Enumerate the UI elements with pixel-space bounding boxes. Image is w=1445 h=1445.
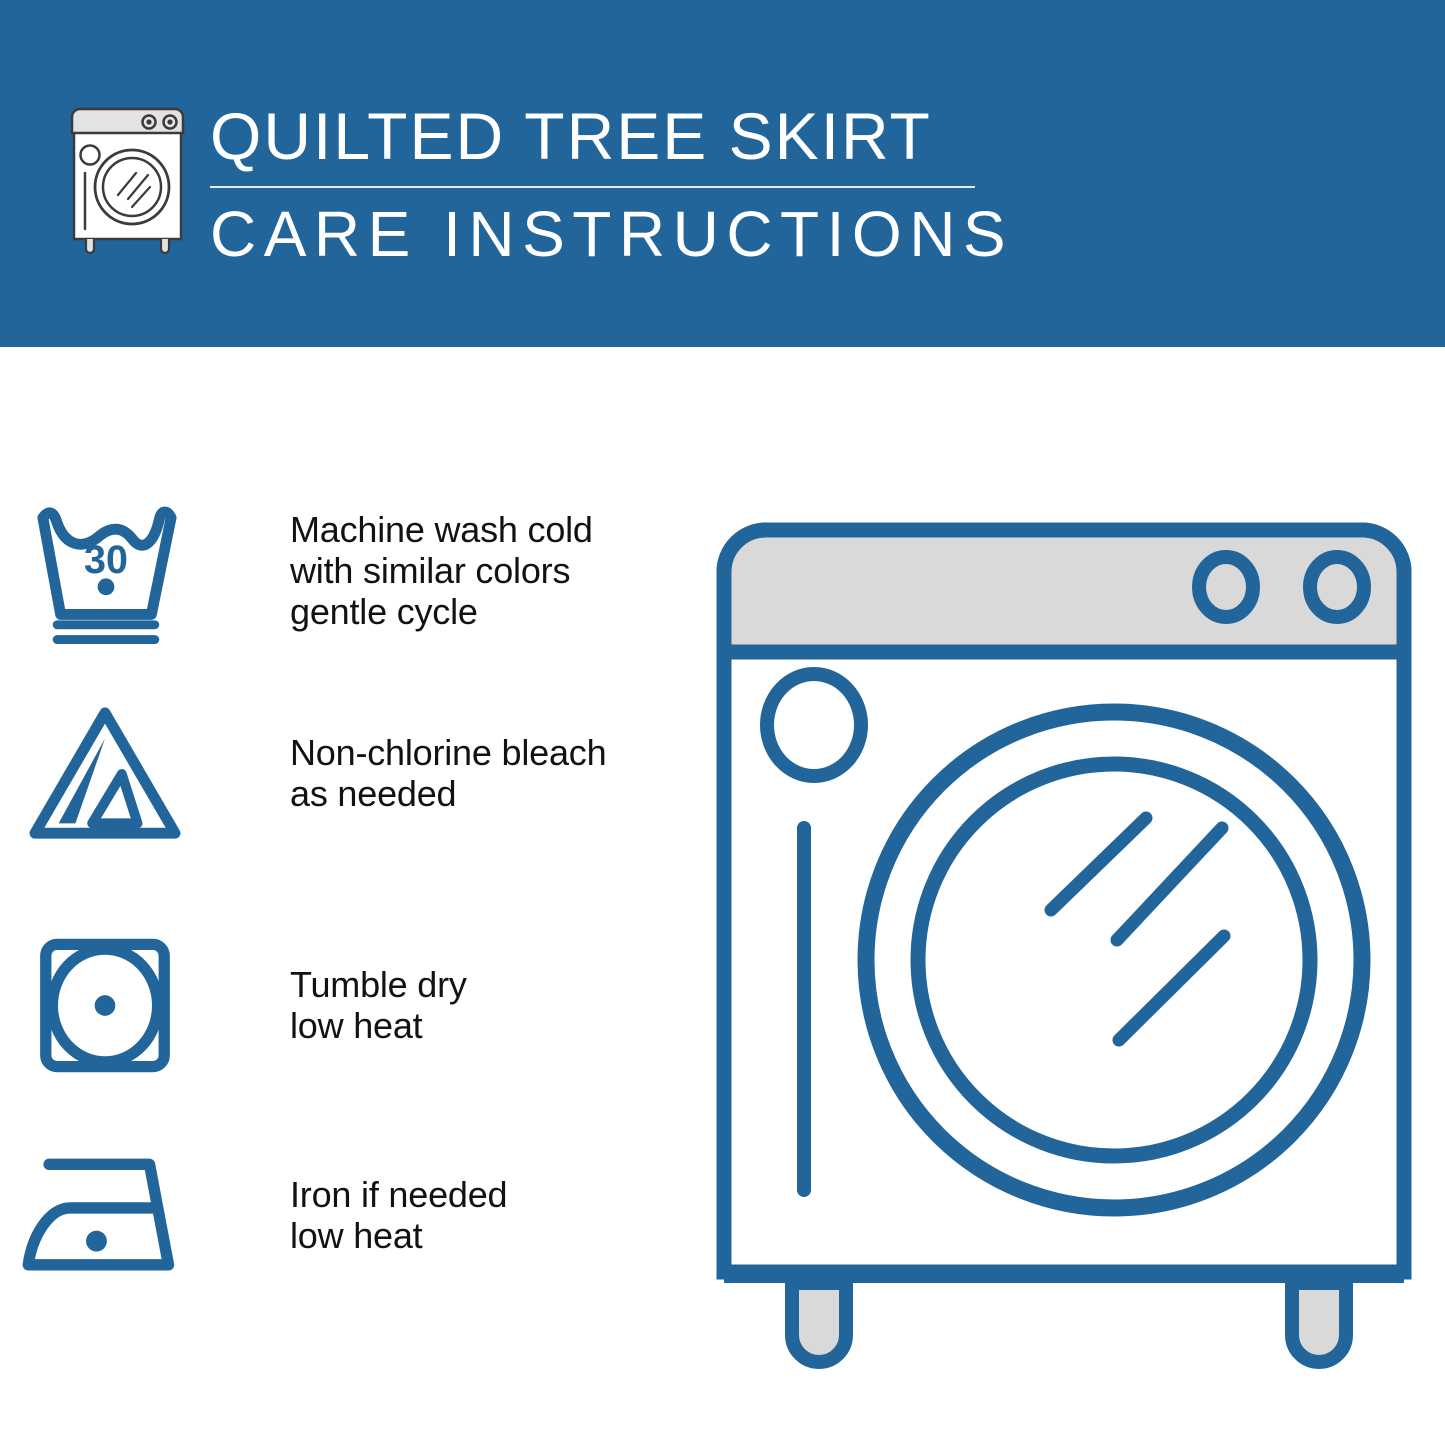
- header-banner: QUILTED TREE SKIRT CARE INSTRUCTIONS: [0, 0, 1445, 347]
- care-row-iron: Iron if needed low heat: [0, 1140, 700, 1290]
- header-text-block: QUILTED TREE SKIRT CARE INSTRUCTIONS: [210, 96, 1000, 272]
- care-text-bleach: Non-chlorine bleach as needed: [210, 732, 606, 814]
- care-instructions-page: QUILTED TREE SKIRT CARE INSTRUCTIONS 30: [0, 0, 1445, 1445]
- page-subtitle: CARE INSTRUCTIONS: [210, 196, 1000, 272]
- care-text-iron: Iron if needed low heat: [210, 1174, 507, 1256]
- wash-tub-30-gentle-icon: 30: [0, 496, 210, 644]
- care-text-machine-wash: Machine wash cold with similar colors ge…: [210, 509, 593, 632]
- front-load-washing-machine-illustration: [714, 470, 1414, 1370]
- tumble-dry-low-icon: [0, 935, 210, 1076]
- care-row-bleach: Non-chlorine bleach as needed: [0, 698, 700, 848]
- control-panel: [724, 530, 1404, 652]
- care-text-tumble-dry: Tumble dry low heat: [210, 964, 467, 1046]
- non-chlorine-bleach-triangle-icon: [0, 699, 210, 847]
- iron-low-heat-icon: [0, 1149, 210, 1282]
- title-divider: [210, 186, 975, 188]
- machine-leg-right: [1292, 1283, 1346, 1362]
- wash-temperature-label: 30: [84, 538, 128, 582]
- washing-machine-icon: [60, 103, 195, 255]
- care-row-tumble-dry: Tumble dry low heat: [0, 930, 700, 1080]
- page-title: QUILTED TREE SKIRT: [210, 96, 1000, 176]
- care-row-machine-wash: 30 Machine wash cold with similar colors…: [0, 490, 700, 650]
- machine-leg-left: [792, 1283, 846, 1362]
